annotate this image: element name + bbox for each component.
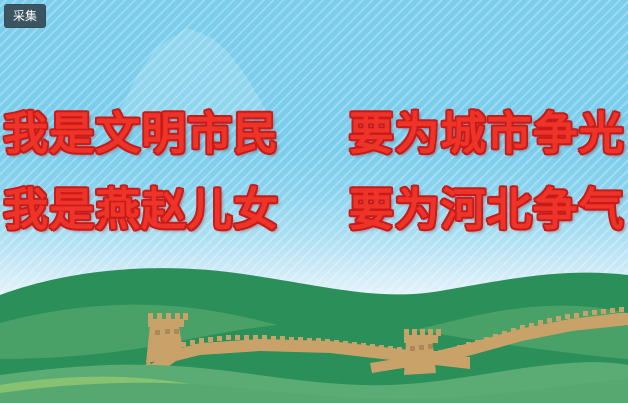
landscape-illustration [0, 263, 628, 403]
capture-button[interactable]: 采集 [4, 4, 46, 28]
banner-image: 我是文明市民 要为城市争光 我是燕赵儿女 要为河北争气 采集 [0, 0, 628, 403]
